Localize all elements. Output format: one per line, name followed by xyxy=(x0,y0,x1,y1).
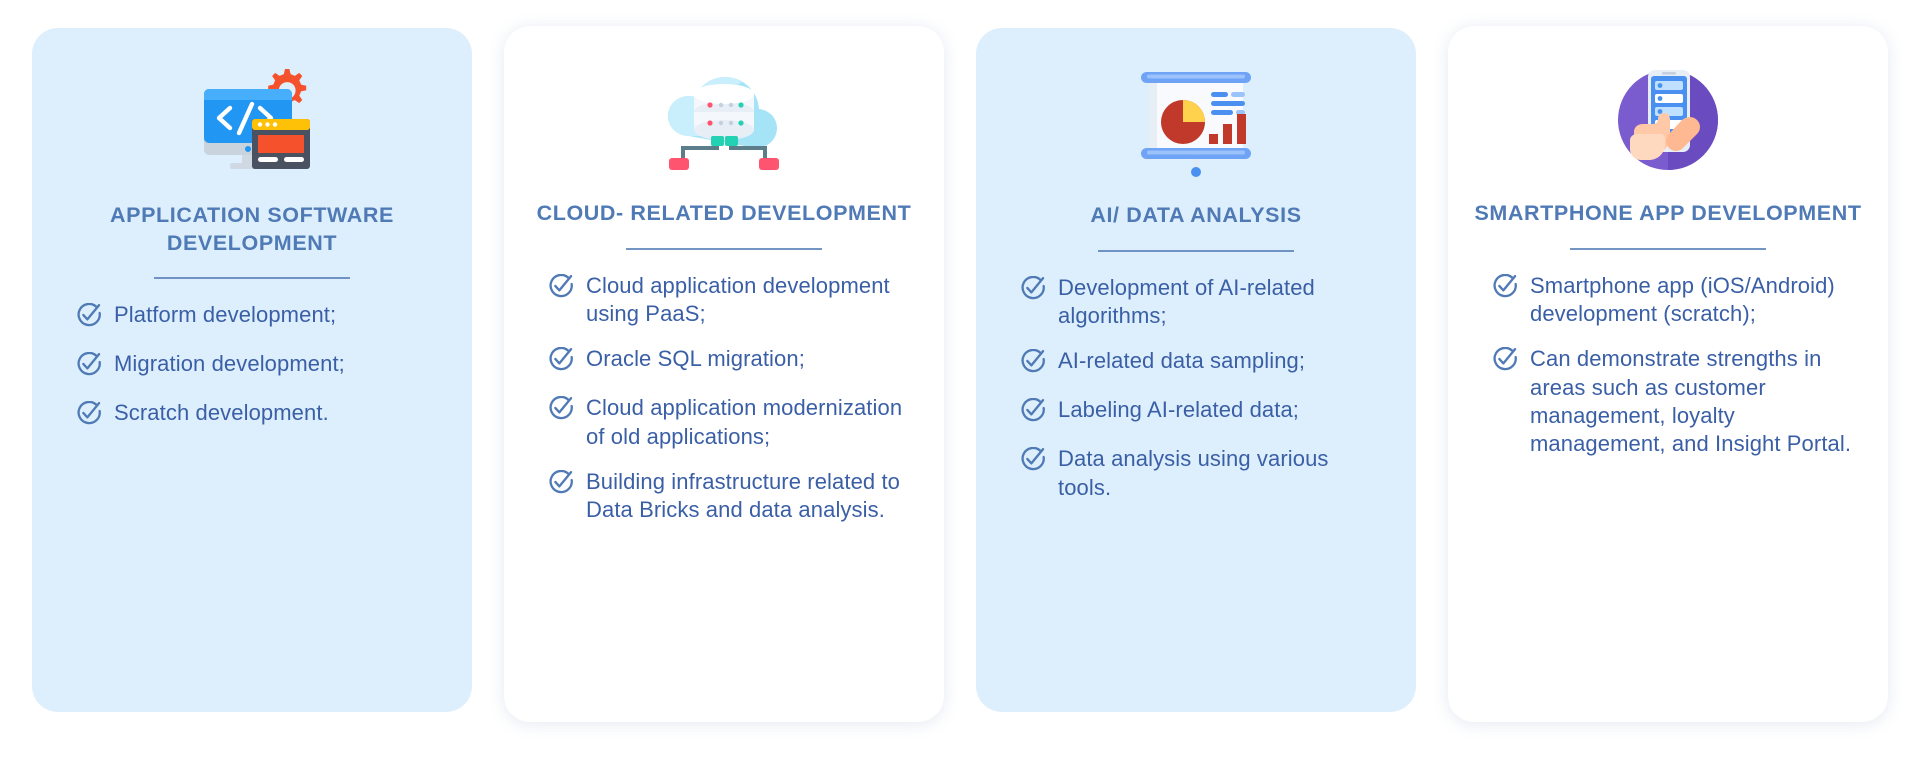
list-item-label: AI-related data sampling; xyxy=(1058,347,1305,375)
list-item: Labeling AI-related data; xyxy=(1020,396,1384,428)
card-cloud-related-development: CLOUD- RELATED DEVELOPMENT Cloud applica… xyxy=(504,26,944,722)
check-circle-icon xyxy=(548,274,573,304)
list-item: Migration development; xyxy=(76,350,440,382)
card-title: CLOUD- RELATED DEVELOPMENT xyxy=(537,200,912,228)
list-item: Smartphone app (iOS/Android) development… xyxy=(1492,272,1856,329)
list-item: Cloud application modernization of old a… xyxy=(548,394,912,451)
services-card-board: APPLICATION SOFTWARE DEVELOPMENT Platfor… xyxy=(0,0,1920,768)
list-item-label: Can demonstrate strengths in areas such … xyxy=(1530,345,1856,459)
list-item: Development of AI-related algorithms; xyxy=(1020,274,1384,331)
list-item: Cloud application development using PaaS… xyxy=(548,272,912,329)
list-item: Scratch development. xyxy=(76,399,440,431)
title-divider xyxy=(1570,248,1766,250)
list-item: Oracle SQL migration; xyxy=(548,345,912,377)
bullet-list: Cloud application development using PaaS… xyxy=(530,272,918,525)
list-item: Data analysis using various tools. xyxy=(1020,445,1384,502)
list-item-label: Scratch development. xyxy=(114,399,329,427)
check-circle-icon xyxy=(548,347,573,377)
list-item-label: Platform development; xyxy=(114,301,336,329)
bullet-list: Development of AI-related algorithms; AI… xyxy=(1002,274,1390,503)
check-circle-icon xyxy=(76,303,101,333)
list-item: Building infrastructure related to Data … xyxy=(548,468,912,525)
list-item-label: Smartphone app (iOS/Android) development… xyxy=(1530,272,1856,329)
list-item-label: Migration development; xyxy=(114,350,345,378)
card-application-software-development: APPLICATION SOFTWARE DEVELOPMENT Platfor… xyxy=(32,28,472,712)
title-divider xyxy=(1098,250,1294,252)
hand-holding-smartphone-icon xyxy=(1604,58,1732,184)
check-circle-icon xyxy=(1020,447,1045,477)
card-smartphone-app-development: SMARTPHONE APP DEVELOPMENT Smartphone ap… xyxy=(1448,26,1888,722)
list-item: Platform development; xyxy=(76,301,440,333)
bullet-list: Smartphone app (iOS/Android) development… xyxy=(1474,272,1862,459)
check-circle-icon xyxy=(1492,274,1517,304)
check-circle-icon xyxy=(76,352,101,382)
title-divider xyxy=(154,277,350,279)
check-circle-icon xyxy=(76,401,101,431)
list-item: AI-related data sampling; xyxy=(1020,347,1384,379)
list-item-label: Oracle SQL migration; xyxy=(586,345,805,373)
bullet-list: Platform development; Migration developm… xyxy=(58,301,446,431)
list-item: Can demonstrate strengths in areas such … xyxy=(1492,345,1856,459)
check-circle-icon xyxy=(1020,398,1045,428)
cloud-database-network-icon xyxy=(649,58,799,184)
check-circle-icon xyxy=(1020,349,1045,379)
list-item-label: Data analysis using various tools. xyxy=(1058,445,1384,502)
list-item-label: Labeling AI-related data; xyxy=(1058,396,1299,424)
list-item-label: Cloud application development using PaaS… xyxy=(586,272,912,329)
list-item-label: Development of AI-related algorithms; xyxy=(1058,274,1384,331)
card-title: APPLICATION SOFTWARE DEVELOPMENT xyxy=(58,202,446,257)
title-divider xyxy=(626,248,822,250)
check-circle-icon xyxy=(548,470,573,500)
check-circle-icon xyxy=(548,396,573,426)
card-ai-data-analysis: AI/ DATA ANALYSIS Development of AI-rela… xyxy=(976,28,1416,712)
list-item-label: Cloud application modernization of old a… xyxy=(586,394,912,451)
code-window-gear-icon xyxy=(190,60,314,186)
presentation-chart-icon xyxy=(1131,60,1261,186)
check-circle-icon xyxy=(1020,276,1045,306)
card-title: AI/ DATA ANALYSIS xyxy=(1090,202,1301,230)
list-item-label: Building infrastructure related to Data … xyxy=(586,468,912,525)
check-circle-icon xyxy=(1492,347,1517,377)
card-title: SMARTPHONE APP DEVELOPMENT xyxy=(1474,200,1861,228)
